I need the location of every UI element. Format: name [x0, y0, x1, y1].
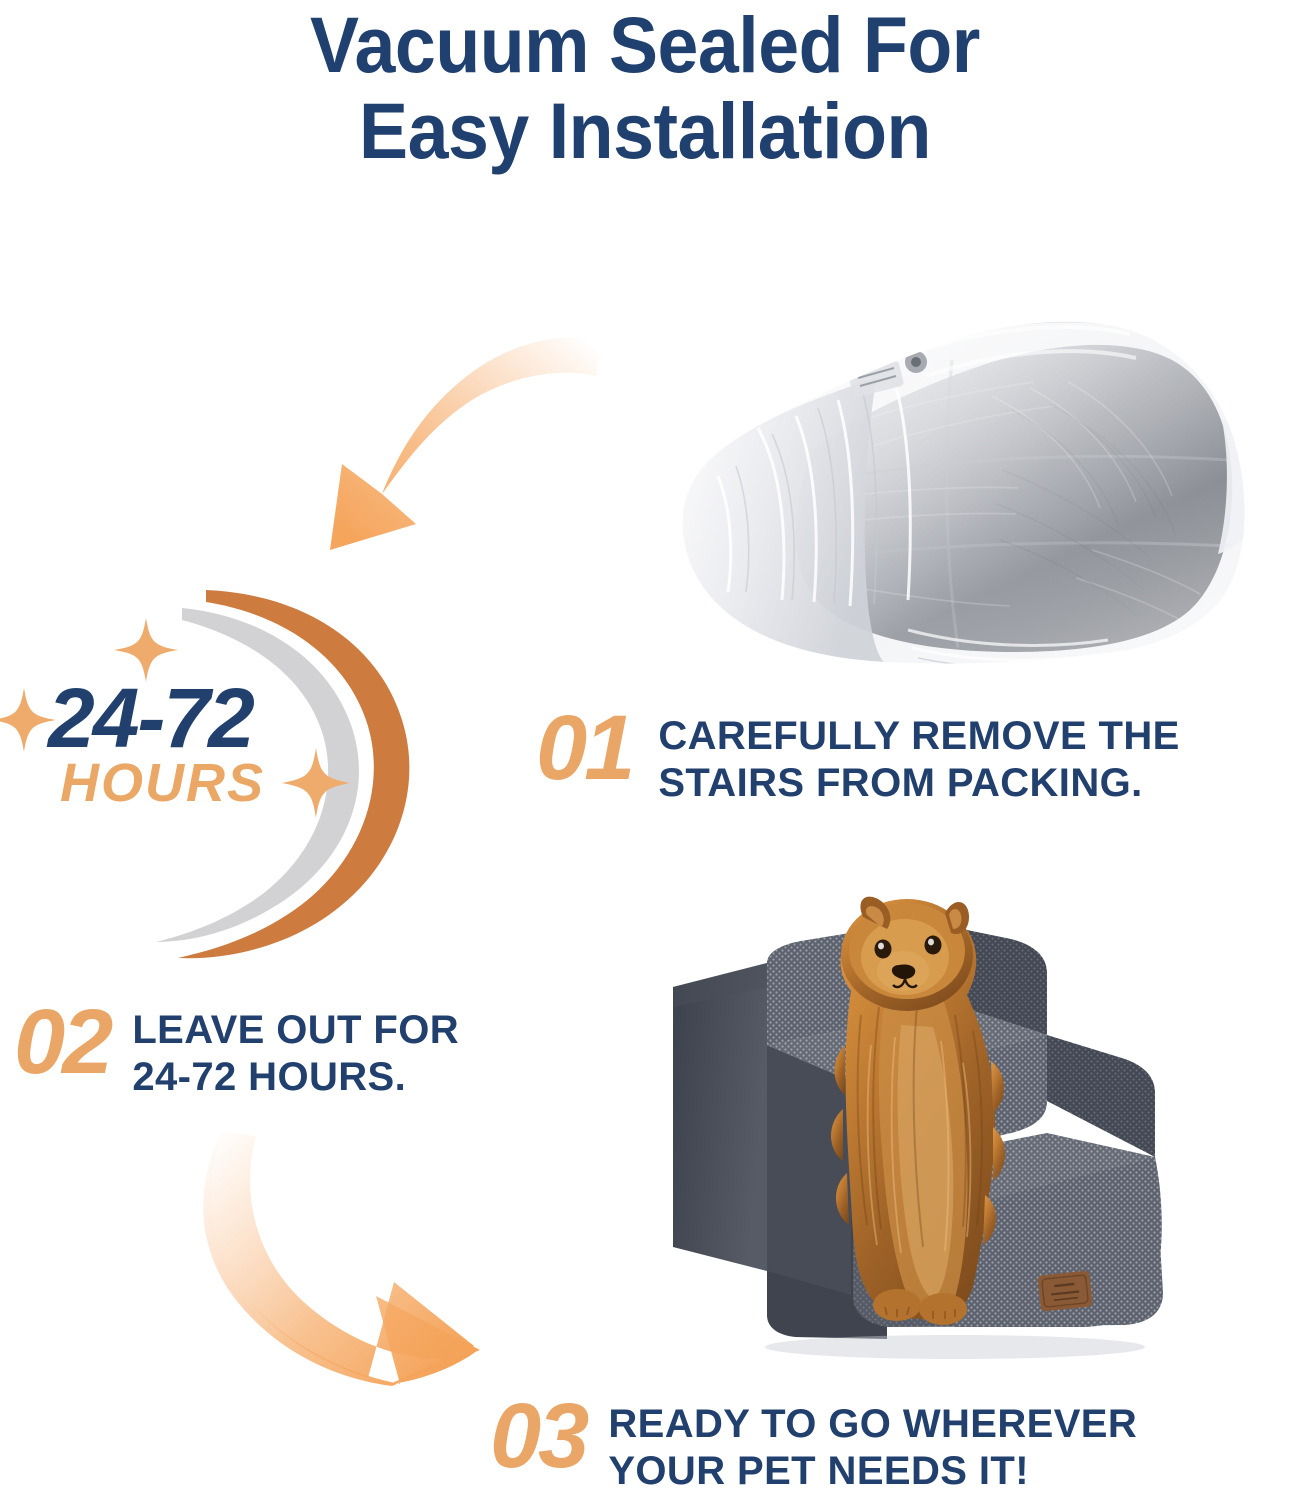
step-number-03: 03	[490, 1388, 586, 1484]
page-title: Vacuum Sealed For Easy Installation	[45, 2, 1245, 174]
step-text-03: READY TO GO WHEREVER YOUR PET NEEDS IT!	[608, 1388, 1137, 1495]
product-image-vacuum-sealed-package	[662, 300, 1282, 690]
infographic-page: Vacuum Sealed For Easy Installation	[0, 0, 1290, 1500]
curved-arrow-down-right-icon	[178, 1128, 528, 1398]
step-text-01: CAREFULLY REMOVE THE STAIRS FROM PACKING…	[658, 700, 1179, 807]
step-item-03: 03 READY TO GO WHEREVER YOUR PET NEEDS I…	[490, 1388, 1137, 1495]
step-item-01: 01 CAREFULLY REMOVE THE STAIRS FROM PACK…	[536, 700, 1180, 807]
product-image-pet-stairs-with-dog	[655, 895, 1270, 1365]
step-item-02: 02 LEAVE OUT FOR 24-72 HOURS.	[14, 994, 459, 1101]
duration-badge: 24-72 HOURS	[0, 588, 440, 963]
sparkle-icon	[0, 618, 350, 818]
brand-logo-tag	[1037, 1270, 1092, 1311]
step-number-02: 02	[14, 994, 110, 1090]
curved-arrow-down-left-icon	[296, 318, 606, 588]
step-number-01: 01	[536, 700, 632, 796]
badge-swoosh-graphic	[0, 588, 440, 963]
step-text-02: LEAVE OUT FOR 24-72 HOURS.	[132, 994, 459, 1101]
